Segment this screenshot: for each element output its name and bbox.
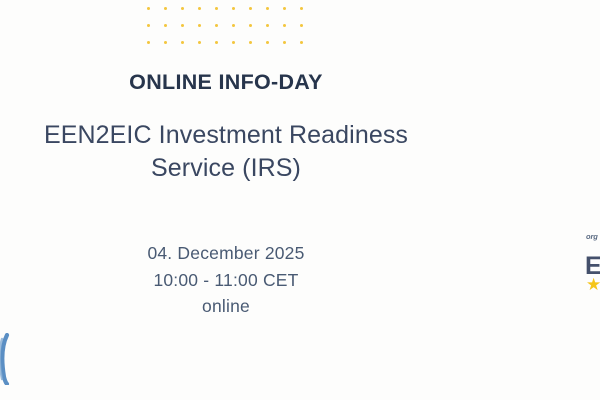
event-details: 04. December 2025 10:00 - 11:00 CET onli… bbox=[0, 240, 452, 320]
event-time: 10:00 - 11:00 CET bbox=[0, 267, 452, 294]
event-title-line-1: EEN2EIC Investment Readiness bbox=[12, 119, 440, 152]
poster-text-column: ONLINE INFO-DAY EEN2EIC Investment Readi… bbox=[0, 0, 452, 400]
organiser-label: org bbox=[586, 232, 598, 241]
organiser-logo: org E ★ bbox=[585, 232, 600, 302]
event-title-line-2: Service (IRS) bbox=[12, 152, 440, 185]
star-icon: ★ bbox=[586, 278, 600, 292]
event-location: online bbox=[0, 293, 452, 320]
event-date: 04. December 2025 bbox=[0, 240, 452, 267]
event-title: EEN2EIC Investment Readiness Service (IR… bbox=[0, 119, 452, 185]
blue-brush-stroke-icon bbox=[0, 333, 22, 385]
eyebrow-title: ONLINE INFO-DAY bbox=[0, 71, 452, 95]
info-day-poster: ONLINE INFO-DAY EEN2EIC Investment Readi… bbox=[0, 0, 600, 400]
